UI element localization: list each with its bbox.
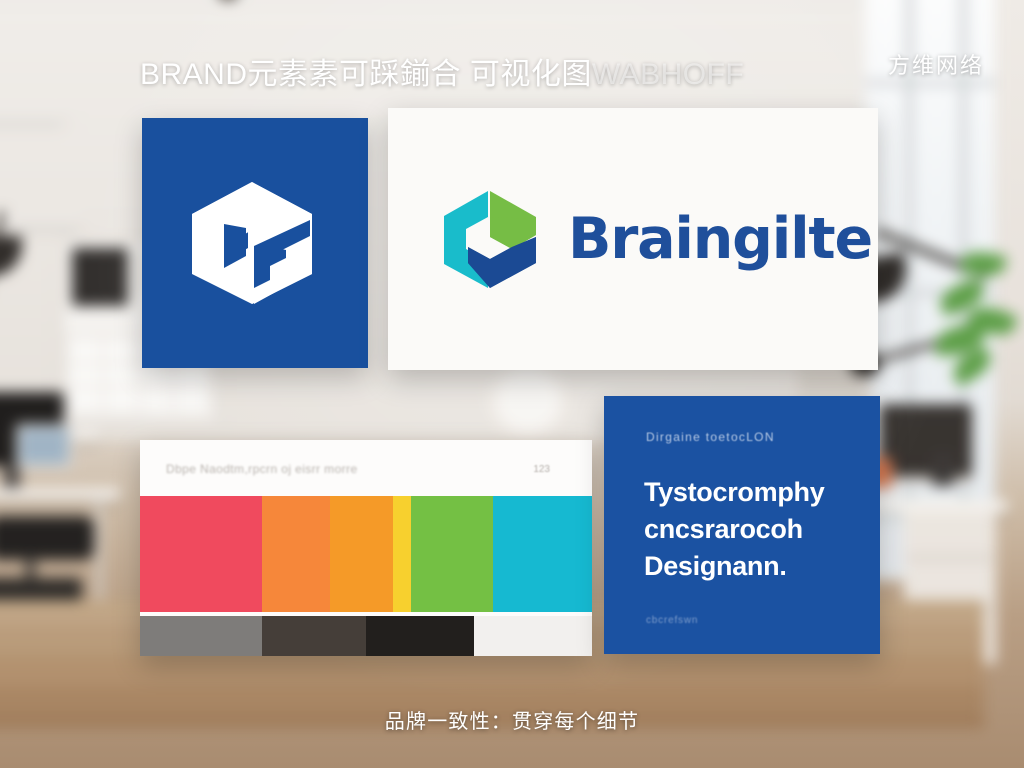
page-title: BRAND元素素可踩鎆合 可视化图WABHOFF xyxy=(140,55,860,95)
grayscale-swatch-row xyxy=(140,616,592,656)
typography-card-headline: Tystocromphy cncsrarocoh Designann. xyxy=(644,474,862,585)
color-swatch-amber[interactable] xyxy=(330,496,393,612)
page-title-faded: WABHOFF xyxy=(592,58,744,91)
gray-swatch-white[interactable] xyxy=(474,616,592,656)
logo-wordmark: Braingilte xyxy=(568,206,872,272)
logo-lockup: Braingilte xyxy=(440,189,872,289)
color-swatch-green[interactable] xyxy=(411,496,492,612)
palette-card-number: 123 xyxy=(533,464,550,475)
gray-swatch-gray[interactable] xyxy=(140,616,262,656)
palette-card-header: Dbpe Naodtm,rpcrn oj eisrr morre 123 xyxy=(166,460,570,486)
gray-swatch-dark-brown[interactable] xyxy=(262,616,366,656)
color-swatch-cyan[interactable] xyxy=(493,496,592,612)
color-swatch-red[interactable] xyxy=(140,496,262,612)
color-swatch-orange[interactable] xyxy=(262,496,330,612)
typography-card[interactable]: Dirgaine toetocLON Tystocromphy cncsraro… xyxy=(604,396,880,654)
logo-mark-panel[interactable] xyxy=(142,118,368,368)
bottom-caption: 品牌一致性：贯穿每个细节 xyxy=(0,705,1024,734)
color-swatch-yellow[interactable] xyxy=(393,496,411,612)
watermark: 方维网络 xyxy=(888,48,984,80)
hexagon-cube-color-logo-icon xyxy=(440,189,542,289)
typography-card-eyebrow: Dirgaine toetocLON xyxy=(646,430,775,444)
palette-card-title: Dbpe Naodtm,rpcrn oj eisrr morre xyxy=(166,462,358,476)
typography-card-footer: cbcrefswn xyxy=(646,615,698,626)
color-palette-card[interactable]: Dbpe Naodtm,rpcrn oj eisrr morre 123 xyxy=(140,440,592,656)
logo-lockup-panel[interactable]: Braingilte xyxy=(388,108,878,370)
screenshot-stage: BRAND元素素可踩鎆合 可视化图WABHOFF 方维网络 Braingilte xyxy=(0,0,1024,768)
page-title-main: BRAND元素素可踩鎆合 可视化图 xyxy=(140,58,592,91)
color-swatch-row xyxy=(140,496,592,612)
hexagon-cube-logo-mark-icon xyxy=(190,180,320,306)
gray-swatch-near-black[interactable] xyxy=(366,616,474,656)
